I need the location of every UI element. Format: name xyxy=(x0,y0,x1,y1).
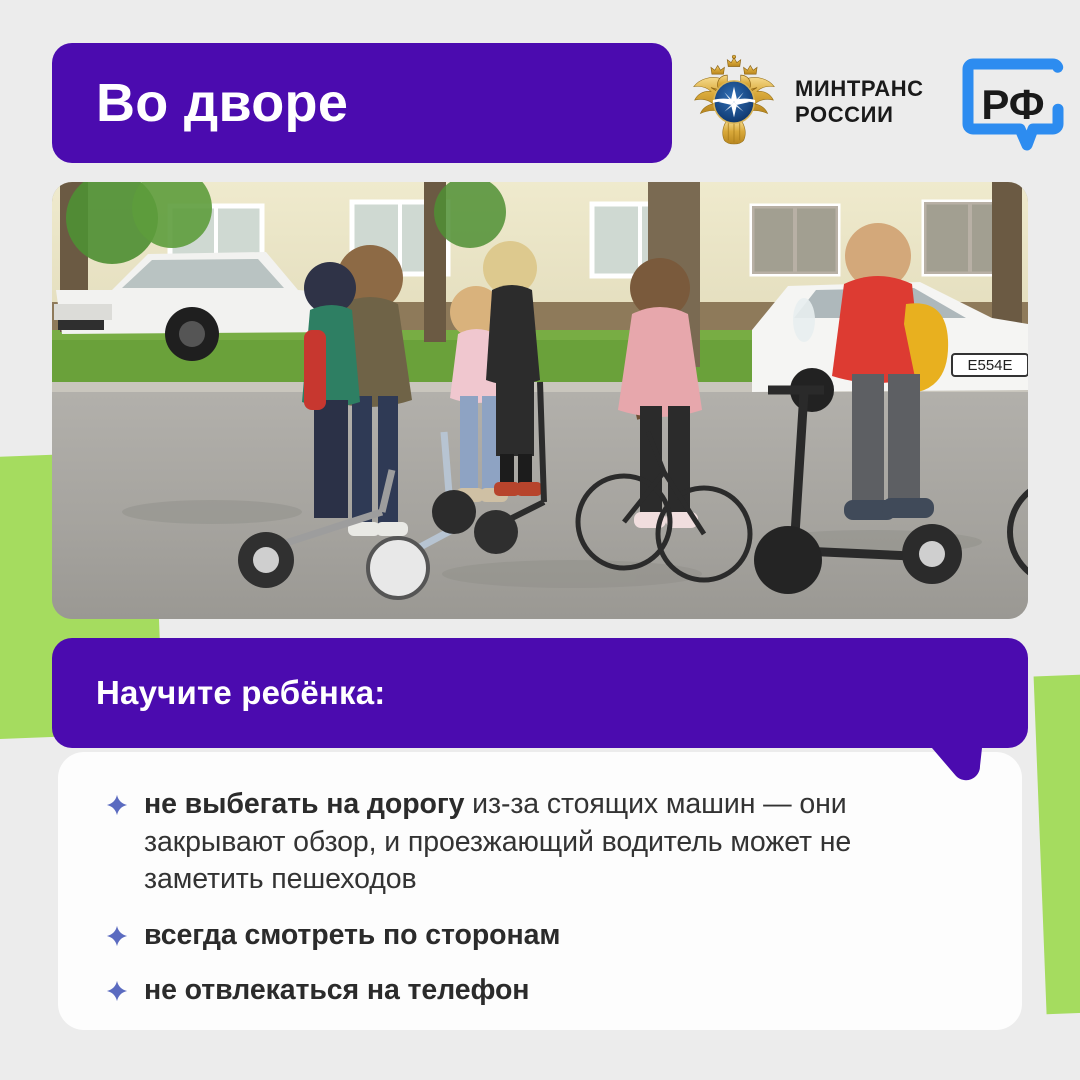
list-item: не выбегать на дорогу из-за стоящих маши… xyxy=(106,786,970,899)
diamond-bullet-icon xyxy=(106,980,128,1002)
advice-list: не выбегать на дорогу из-за стоящих маши… xyxy=(106,786,970,1010)
svg-text:Е554Е: Е554Е xyxy=(967,357,1012,374)
title-banner: Во дворе xyxy=(52,43,672,163)
advice-lead: не отвлекаться на телефон xyxy=(144,974,529,1006)
list-item: не отвлекаться на телефон xyxy=(106,972,970,1010)
green-accent-shape-right xyxy=(1034,668,1080,1015)
advice-lead: всегда смотреть по сторонам xyxy=(144,919,560,951)
ministry-name: МИНТРАНС РОССИИ xyxy=(795,76,924,127)
advice-lead: не выбегать на дорогу xyxy=(144,788,464,820)
russian-double-headed-eagle-emblem xyxy=(686,54,782,150)
section-heading: Научите ребёнка: xyxy=(96,638,385,748)
diamond-bullet-icon xyxy=(106,794,128,816)
courtyard-scene-illustration: Е554Е xyxy=(52,182,1028,619)
header: Во дворе xyxy=(0,0,1080,180)
advice-card: не выбегать на дорогу из-за стоящих маши… xyxy=(58,752,1022,1030)
rf-logo-text: РФ xyxy=(981,81,1044,128)
page-title: Во дворе xyxy=(96,76,348,130)
section-banner: Научите ребёнка: xyxy=(52,638,1028,748)
brand-logo-block: МИНТРАНС РОССИИ РФ xyxy=(686,48,1067,156)
rf-speech-bubble-logo: РФ xyxy=(959,52,1067,152)
advice-text: не выбегать на дорогу из-за стоящих маши… xyxy=(144,786,970,899)
advice-text: не отвлекаться на телефон xyxy=(144,972,529,1010)
ministry-line-2: РОССИИ xyxy=(795,102,924,128)
ministry-line-1: МИНТРАНС xyxy=(795,76,924,102)
hero-photo: Е554Е xyxy=(52,182,1028,619)
advice-text: всегда смотреть по сторонам xyxy=(144,917,560,955)
list-item: всегда смотреть по сторонам xyxy=(106,917,970,955)
diamond-bullet-icon xyxy=(106,925,128,947)
